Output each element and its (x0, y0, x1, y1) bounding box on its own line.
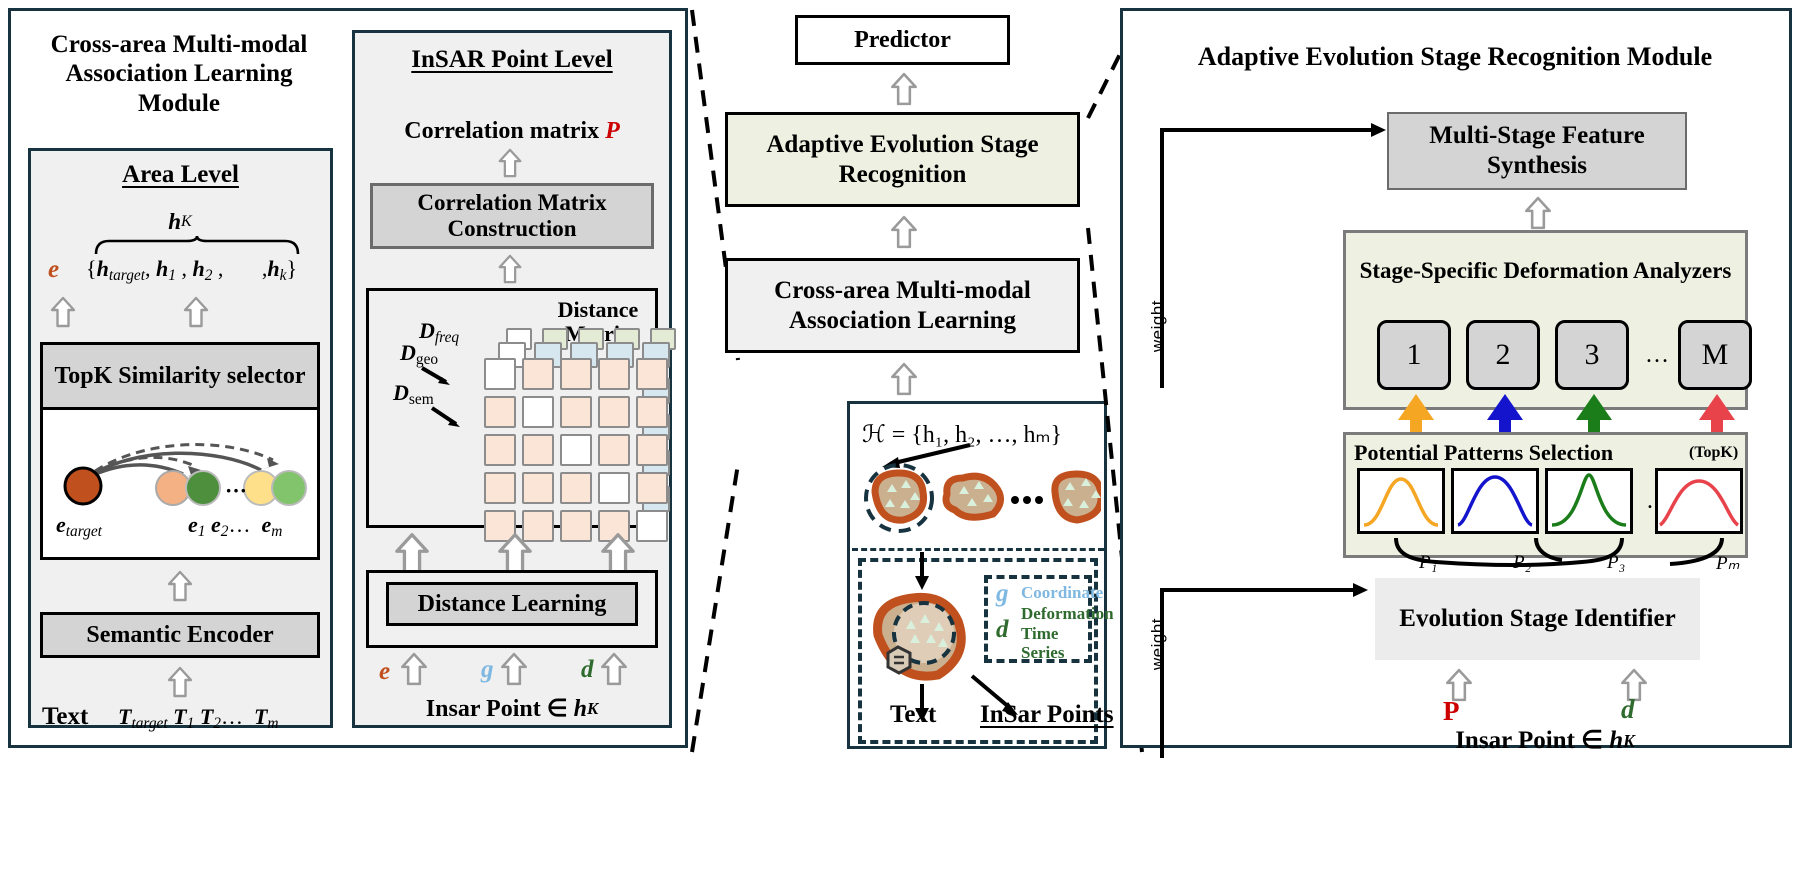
area-hk-label: hK (120, 208, 240, 236)
center-text-label: Text (890, 700, 936, 730)
input-e-symbol: e (379, 658, 390, 686)
weight-label-top: weight (1148, 300, 1168, 352)
pattern-curve-1[interactable] (1357, 468, 1445, 534)
analyzer-box-2[interactable]: 2 (1466, 320, 1540, 390)
legend-g-symbol: g (996, 580, 1009, 608)
weight-label-bottom: weight (1148, 618, 1168, 670)
pattern-curve-m[interactable] (1655, 468, 1743, 534)
area-e-symbol: e (48, 256, 59, 284)
right-input-d-symbol: d (1621, 694, 1635, 725)
up-arrow-icon (500, 652, 528, 686)
distance-learning[interactable]: Distance Learning (386, 582, 638, 626)
topk-similarity-selector[interactable]: TopK Similarity selector (43, 345, 317, 410)
right-module-title: Adaptive Evolution Stage Recognition Mod… (1170, 22, 1740, 92)
correlation-matrix-output: Correlation matrix P (352, 116, 672, 146)
up-arrow-icon (600, 652, 628, 686)
up-arrow-icon (497, 254, 523, 284)
pattern-label-p2: P₂ (1513, 552, 1531, 574)
analyzer-box-1[interactable]: 1 (1377, 320, 1451, 390)
up-arrow-icon (167, 666, 193, 698)
semantic-encoder[interactable]: Semantic Encoder (40, 612, 320, 658)
up-arrow-icon (890, 72, 918, 106)
right-footer-label: Insar Point ∈ hK (1380, 726, 1710, 756)
weight-feedback-bottom (1140, 570, 1400, 770)
pattern-label-p1: P₁ (1419, 552, 1437, 574)
multi-stage-feature-synthesis[interactable]: Multi-Stage Feature Synthesis (1387, 112, 1687, 190)
correlation-matrix-text: Correlation matrix (404, 117, 599, 145)
up-arrow-icon (497, 148, 523, 178)
up-arrow-icon (890, 362, 918, 396)
input-g-symbol: g (481, 656, 494, 684)
potential-patterns-title: Potential Patterns Selection (1354, 440, 1613, 466)
left-module-title: Cross-area Multi-modal Association Learn… (24, 26, 334, 122)
legend-d-symbol: d (996, 616, 1009, 644)
input-d-symbol: d (581, 656, 594, 684)
up-arrow-icon (50, 296, 76, 328)
correlation-matrix-construction[interactable]: Correlation Matrix Construction (370, 183, 654, 249)
area-level-heading: Area Level (28, 158, 333, 192)
text-input-label: Text (42, 702, 88, 732)
up-arrow-icon (1524, 196, 1552, 230)
evolution-stage-identifier[interactable]: Evolution Stage Identifier (1375, 578, 1700, 660)
pattern-curve-3[interactable] (1545, 468, 1633, 534)
pattern-curve-2[interactable] (1451, 468, 1539, 534)
e-target-label: etarget (56, 512, 102, 541)
analyzer-ellipsis: … (1637, 320, 1677, 390)
e-nodes-labels: e1 e2… em (188, 512, 282, 541)
analyzer-box-m[interactable]: M (1678, 320, 1752, 390)
predictor-box[interactable]: Predictor (795, 15, 1010, 65)
curly-brace (93, 236, 303, 256)
up-arrow-icon (400, 652, 428, 686)
up-arrow-icon (890, 215, 918, 249)
area-h-set: {htarget, h1 , h2 , ,hk} (86, 256, 297, 285)
analyzer-box-3[interactable]: 3 (1555, 320, 1629, 390)
distance-matrix-grid (476, 328, 662, 520)
insar-level-heading: InSAR Point Level (352, 42, 672, 78)
right-input-p-symbol: P (1443, 696, 1460, 728)
text-token-list: Ttarget T1 T2… Tm (118, 704, 279, 733)
insar-point-footer: Insar Point ∈ hK (352, 694, 672, 724)
pattern-label-p3: P₃ (1607, 552, 1625, 574)
correlation-matrix-symbol: P (605, 117, 620, 145)
svg-text:···: ··· (225, 478, 247, 503)
potential-patterns-topk: (TopK) (1689, 444, 1738, 463)
pattern-label-pm: Pₘ (1716, 552, 1739, 575)
up-arrow-icon (167, 570, 193, 602)
up-arrow-icon (183, 296, 209, 328)
stage-analyzers-title: Stage-Specific Deformation Analyzers (1343, 240, 1748, 302)
